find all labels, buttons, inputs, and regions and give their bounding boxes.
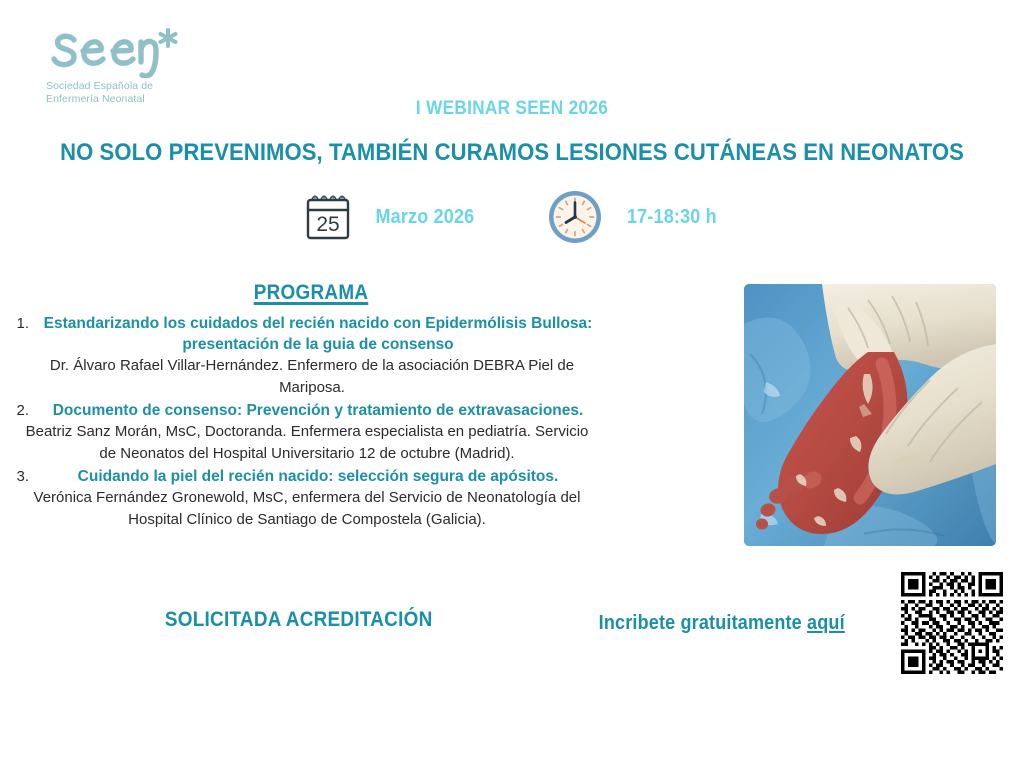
page-title: NO SOLO PREVENIMOS, TAMBIÉN CURAMOS LESI… [51,139,973,167]
registration-text: Incribete gratuitamente [599,612,807,634]
registration-link[interactable]: aquí [807,612,845,634]
list-item-title: Documento de consenso: Prevención y trat… [38,400,608,421]
list-item: 3. Cuidando la piel del recién nacido: s… [8,466,608,530]
datetime-row: 25 Marzo 2026 17-18:30 h [0,188,1024,246]
list-item-speaker: Verónica Fernández Gronewold, MsC, enfer… [8,487,608,530]
qr-code-matrix [901,572,1003,674]
programa-heading: PROGRAMA [199,281,424,305]
logo-tagline-line1: Sociedad Española de [46,80,246,93]
list-item-number: 1. [8,313,38,334]
calendar-icon: 25 [302,191,354,243]
list-item: 1. Estandarizando los cuidados del recié… [8,313,608,398]
list-item-title: Cuidando la piel del recién nacido: sele… [38,466,608,487]
list-item-number: 2. [8,400,38,421]
clinical-photo-illustration [744,284,996,546]
qr-code-icon[interactable] [901,572,1003,674]
webinar-kicker: I WEBINAR SEEN 2026 [51,98,973,120]
program-list: 1. Estandarizando los cuidados del recié… [8,313,608,532]
seen-logo: Sociedad Española de Enfermería Neonatal [46,24,246,105]
asterisk-icon [161,30,176,46]
list-item-speaker: Dr. Álvaro Rafael Villar-Hernández. Enfe… [8,355,608,398]
date-label: Marzo 2026 [376,206,475,229]
registration-cta: Incribete gratuitamente aquí [599,612,845,635]
list-item-title: Estandarizando los cuidados del recién n… [38,313,608,355]
time-label: 17-18:30 h [627,206,717,229]
clinical-photo [744,284,996,546]
list-item-number: 3. [8,466,38,487]
list-item: 2. Documento de consenso: Prevención y t… [8,400,608,464]
clock-icon [546,188,604,246]
webinar-poster: Sociedad Española de Enfermería Neonatal… [0,0,1024,768]
list-item-speaker: Beatriz Sanz Morán, MsC, Doctoranda. Enf… [8,421,608,464]
seen-wordmark-icon [46,24,182,78]
calendar-day-label: 25 [316,213,339,236]
accreditation-label: SOLICITADA ACREDITACIÓN [165,608,433,632]
